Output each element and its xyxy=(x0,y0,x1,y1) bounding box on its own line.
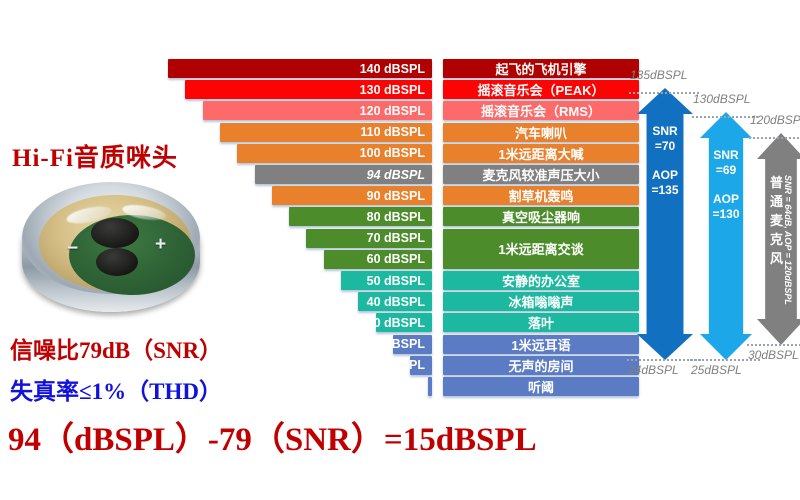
spl-bar: 80 dBSPL xyxy=(289,207,432,226)
spl-description-text: 1米远耳语 xyxy=(511,335,570,354)
spl-value-label: 90 dBSPL xyxy=(367,189,425,203)
arrow-spec-line: =135 xyxy=(637,183,693,198)
hifi-mic-arrow: SNR=70AOP=135 xyxy=(637,88,693,360)
spl-value-label: 80 dBSPL xyxy=(367,210,425,224)
spl-description: 安静的办公室 xyxy=(443,271,639,290)
spl-description: 无声的房间 xyxy=(443,356,639,375)
arrow-top-label: 135dBSPL xyxy=(630,68,687,82)
spl-bar: 10 dBSPL xyxy=(410,356,432,375)
spl-description: 起飞的飞机引擎 xyxy=(443,59,639,78)
spl-value-label: 50 dBSPL xyxy=(367,274,425,288)
spl-value-label: 10 dBSPL xyxy=(367,358,425,372)
arrow-spec-line: =130 xyxy=(700,207,752,222)
arrow-bottom-label: 30dBSPL xyxy=(748,348,799,362)
arrow-top-label: 120dBSPL xyxy=(750,113,800,127)
spl-description: 汽车喇叭 xyxy=(443,123,639,142)
arrow-vertical-subtitle: SNR = 64dB, AOP = 120dBSPL xyxy=(783,175,793,305)
spl-description: 1米远耳语 xyxy=(443,335,639,354)
poster-root: Hi-Fi音质咪头 − + 信噪比79dB（SNR） 失真率≤1%（THD） 9… xyxy=(0,0,800,500)
spl-value-label: 130 dBSPL xyxy=(360,83,425,97)
spl-description-text: 真空吸尘器响 xyxy=(502,207,580,226)
spl-bar: 120 dBSPL xyxy=(203,101,432,120)
spl-description-text: 冰箱嗡嗡声 xyxy=(508,292,573,311)
spl-description-text: 起飞的飞机引擎 xyxy=(495,59,586,78)
spl-bar: 0 dBSPL xyxy=(428,377,433,396)
spl-description: 1米远距离大喊 xyxy=(443,144,639,163)
spl-value-label: 60 dBSPL xyxy=(367,252,425,266)
arrow-spec-line: AOP xyxy=(637,168,693,183)
spl-description: 麦克风较准声压大小 xyxy=(443,165,639,184)
spl-description: 冰箱嗡嗡声 xyxy=(443,292,639,311)
spl-value-label: 40 dBSPL xyxy=(367,295,425,309)
spl-value-label: 20 dBSPL xyxy=(367,337,425,351)
arrow-spec-line: =69 xyxy=(700,163,752,178)
arrow-top-label: 130dBSPL xyxy=(693,92,750,106)
spl-description: 听阈 xyxy=(443,377,639,396)
spl-value-label: 110 dBSPL xyxy=(360,125,425,139)
spl-description-text: 割草机轰鸣 xyxy=(508,186,573,205)
spl-description-text: 1米远距离交谈 xyxy=(498,239,583,258)
spl-value-label: 120 dBSPL xyxy=(360,104,425,118)
arrow-bottom-guide xyxy=(747,344,800,346)
spl-bar: 130 dBSPL xyxy=(185,80,432,99)
spl-value-label: 94 dBSPL xyxy=(367,168,425,182)
spl-description-text: 无声的房间 xyxy=(508,356,573,375)
spl-value-label: 140 dBSPL xyxy=(360,62,425,76)
spl-description-text: 汽车喇叭 xyxy=(515,123,567,142)
arrow-bottom-label: 24dBSPL xyxy=(628,363,679,377)
spl-bar: 140 dBSPL xyxy=(168,59,432,78)
spl-description-text: 麦克风较准声压大小 xyxy=(482,165,599,184)
spl-bar: 60 dBSPL xyxy=(324,250,432,269)
spl-description-text: 听阈 xyxy=(528,377,554,396)
spl-description: 割草机轰鸣 xyxy=(443,186,639,205)
spl-value-label: 30 dBSPL xyxy=(367,316,425,330)
spl-bar: 40 dBSPL xyxy=(358,292,432,311)
arrow-spec-line: AOP xyxy=(700,192,752,207)
spl-bar: 30 dBSPL xyxy=(376,313,432,332)
mid-mic-arrow: SNR=69AOP=130 xyxy=(700,112,752,360)
spl-description: 摇滚音乐会（PEAK） xyxy=(443,80,639,99)
arrow-spec-text: SNR=69AOP=130 xyxy=(700,148,752,222)
arrow-top-guide xyxy=(749,137,800,139)
spl-description-text: 安静的办公室 xyxy=(502,271,580,290)
spl-description: 1米远距离交谈 xyxy=(443,229,639,269)
arrow-spec-text: SNR=70AOP=135 xyxy=(637,124,693,198)
arrow-spec-line: SNR xyxy=(637,124,693,139)
spl-description: 落叶 xyxy=(443,313,639,332)
spl-description-text: 摇滚音乐会（PEAK） xyxy=(477,80,604,99)
spl-bar: 20 dBSPL xyxy=(393,335,432,354)
arrow-top-guide xyxy=(629,92,699,94)
arrow-bottom-label: 25dBSPL xyxy=(691,363,742,377)
spl-value-label: 70 dBSPL xyxy=(367,231,425,245)
spl-bar: 94 dBSPL xyxy=(255,165,433,184)
spl-bar: 100 dBSPL xyxy=(237,144,432,163)
arrow-top-guide xyxy=(692,116,758,118)
spl-bar: 90 dBSPL xyxy=(272,186,432,205)
spl-value-label: 100 dBSPL xyxy=(360,146,425,160)
spl-description-text: 落叶 xyxy=(528,313,554,332)
spl-description: 摇滚音乐会（RMS） xyxy=(443,101,639,120)
spl-description-text: 1米远距离大喊 xyxy=(498,144,583,163)
spl-description: 真空吸尘器响 xyxy=(443,207,639,226)
arrow-spec-line: =70 xyxy=(637,139,693,154)
arrow-spec-line: SNR xyxy=(700,148,752,163)
spl-bar: 70 dBSPL xyxy=(306,229,432,248)
spl-value-label: 0 dBSPL xyxy=(374,380,425,394)
spl-bar: 50 dBSPL xyxy=(341,271,432,290)
normal-mic-arrow: 普 通 麦 克 风SNR = 64dB, AOP = 120dBSPL xyxy=(757,133,800,345)
spl-bar: 110 dBSPL xyxy=(220,123,432,142)
spl-description-text: 摇滚音乐会（RMS） xyxy=(481,101,601,120)
